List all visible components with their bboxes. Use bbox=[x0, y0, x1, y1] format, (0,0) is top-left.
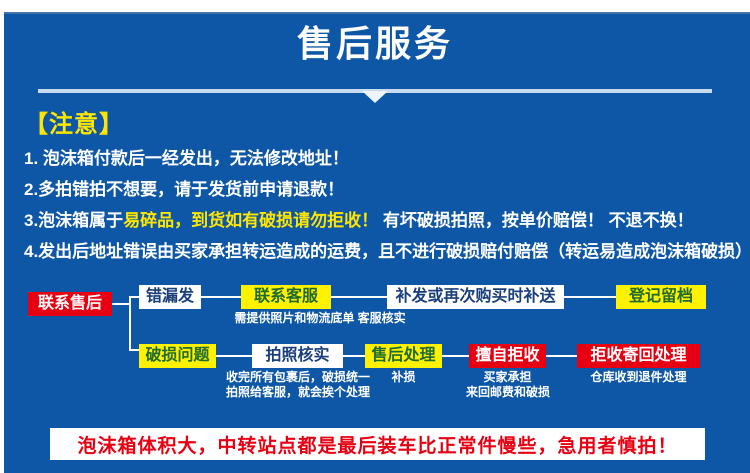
connector-top-2-3 bbox=[330, 296, 388, 298]
notice-item-3: 3.泡沫箱属于易碎品，到货如有破损请勿拒收！ 有坏破损拍照，按单价赔偿！ 不退不… bbox=[24, 209, 694, 233]
flow-caption-contact-customer-service: 需提供照片和物流底单 客服核实 bbox=[175, 311, 465, 326]
notice-item-4-text: 4.发出后地址错误由买家承担转运造成的运费，且不进行破损赔付赔偿（转运易造成泡沫… bbox=[24, 242, 750, 261]
flow-caption-rejected-return-processing: 仓库收到退件处理 bbox=[577, 370, 700, 385]
flow-node-contact-after-sales[interactable]: 联系售后 bbox=[28, 292, 112, 316]
connector-bottom-4-5 bbox=[546, 355, 578, 357]
flow-node-photo-verification[interactable]: 拍照核实 bbox=[252, 344, 343, 368]
flow-node-reship-or-add-on-next-order[interactable]: 补发或再次购买时补送 bbox=[387, 285, 564, 309]
notice-item-1: 1. 泡沫箱付款后一经发出，无法修改地址！ bbox=[24, 147, 349, 171]
flow-caption-unauthorized-rejection-line1: 买家承担 bbox=[469, 370, 546, 385]
left-white-margin bbox=[0, 0, 4, 473]
notice-item-3-text-post: 有坏破损拍照，按单价赔偿！ 不退不换！ bbox=[378, 211, 693, 230]
connector-bottom-3-4 bbox=[441, 355, 470, 357]
flow-caption-photo-verification-line2: 拍照给客服，就会挨个处理 bbox=[187, 385, 409, 400]
bottom-warning-text: 泡沫箱体积大，中转站点都是最后装车比正常件慢些，急用者慎拍！ bbox=[77, 431, 677, 458]
top-white-margin bbox=[0, 0, 750, 12]
notice-item-3-text-highlight: 易碎品，到货如有破损请勿拒收！ bbox=[123, 211, 378, 230]
notice-heading: 【注意】 bbox=[24, 110, 124, 140]
connector-split-vertical bbox=[129, 296, 131, 350]
flow-node-wrong-missing-shipment[interactable]: 错漏发 bbox=[139, 285, 201, 309]
flow-node-register-record[interactable]: 登记留档 bbox=[616, 285, 706, 309]
notice-item-2-text: 2.多拍错拍不想要，请于发货前申请退款！ bbox=[24, 180, 344, 199]
notice-item-2: 2.多拍错拍不想要，请于发货前申请退款！ bbox=[24, 178, 344, 202]
connector-bottom-2-3 bbox=[342, 355, 366, 357]
connector-bottom-1-2 bbox=[215, 355, 253, 357]
bottom-warning-banner: 泡沫箱体积大，中转站点都是最后装车比正常件慢些，急用者慎拍！ bbox=[50, 428, 705, 460]
flow-caption-unauthorized-rejection-line2: 来回邮费和破损 bbox=[462, 385, 554, 400]
notice-item-1-text: 1. 泡沫箱付款后一经发出，无法修改地址！ bbox=[24, 149, 349, 168]
flow-node-rejected-return-processing[interactable]: 拒收寄回处理 bbox=[577, 344, 700, 368]
after-sales-service-banner: 售后服务 【注意】 1. 泡沫箱付款后一经发出，无法修改地址！ 2.多拍错拍不想… bbox=[0, 0, 750, 473]
top-hairline bbox=[0, 12, 750, 14]
flow-node-contact-customer-service[interactable]: 联系客服 bbox=[241, 285, 331, 309]
flow-node-damage-issue[interactable]: 破损问题 bbox=[139, 344, 216, 368]
page-title: 售后服务 bbox=[0, 22, 750, 66]
connector-root-to-split bbox=[112, 303, 130, 305]
notice-item-4: 4.发出后地址错误由买家承担转运造成的运费，且不进行破损赔付赔偿（转运易造成泡沫… bbox=[24, 240, 750, 264]
notice-item-3-text-pre: 3.泡沫箱属于 bbox=[24, 211, 123, 230]
flow-node-after-sales-processing[interactable]: 售后处理 bbox=[365, 344, 442, 368]
connector-top-3-4 bbox=[563, 296, 617, 298]
flow-caption-after-sales-processing: 补损 bbox=[365, 370, 442, 385]
flow-node-unauthorized-rejection[interactable]: 擅自拒收 bbox=[469, 344, 546, 368]
connector-top-1-2 bbox=[200, 296, 242, 298]
title-divider-notch-icon bbox=[362, 91, 388, 103]
